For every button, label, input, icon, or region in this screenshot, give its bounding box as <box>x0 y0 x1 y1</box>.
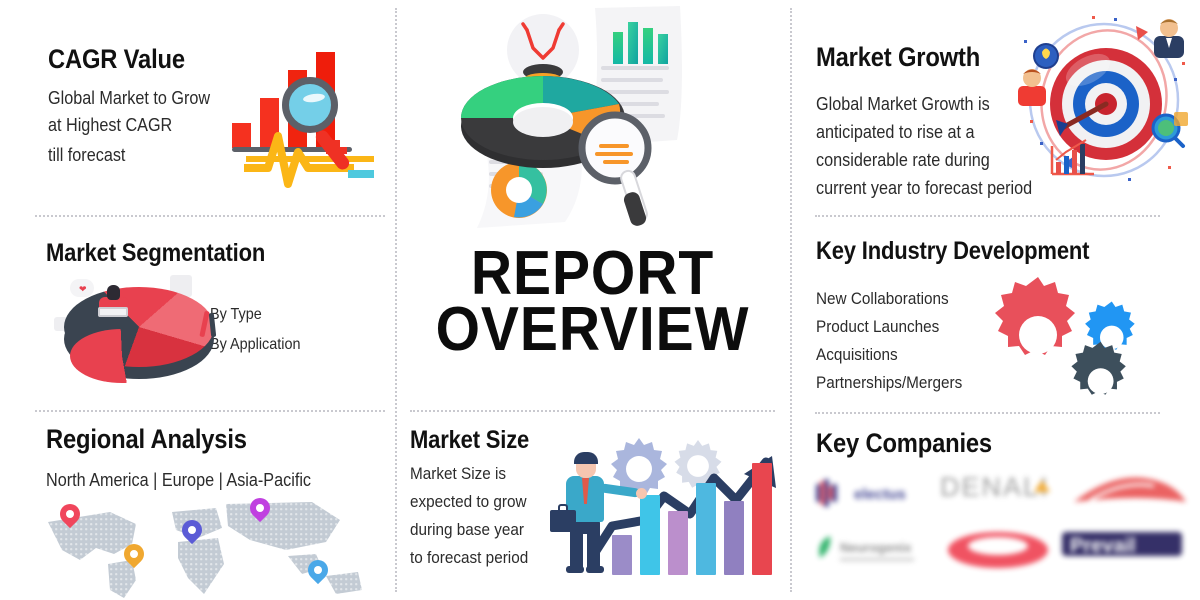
panel-regional-analysis: Regional Analysis North America | Europe… <box>0 410 395 600</box>
company-logo-prevail: Prevail <box>1060 528 1190 566</box>
panel-market-segmentation: Market Segmentation By Type By Applicati… <box>0 215 395 410</box>
market-growth-line-1: Global Market Growth is <box>816 92 990 117</box>
cagr-line-2: at Highest CAGR <box>48 113 172 138</box>
company-logo-denali-text: DENALI <box>940 472 1050 502</box>
cagr-illustration <box>230 75 380 190</box>
person-head <box>107 285 120 300</box>
company-logo-prevail-text: Prevail <box>1070 535 1136 557</box>
market-growth-illustration <box>1018 12 1188 192</box>
panel-market-growth: Market Growth Global Market Growth is an… <box>790 0 1200 215</box>
person-leg-gap <box>583 534 587 570</box>
panel-title-key-industry: Key Industry Development <box>816 237 1089 266</box>
company-logo-neurogenix: Neurogenix <box>810 532 940 566</box>
person-hand <box>636 488 647 499</box>
company-logo-electus: electus <box>810 476 940 510</box>
market-size-bar-1 <box>612 535 632 575</box>
gear-icon-dark <box>1071 342 1125 395</box>
magnifier-icon <box>282 77 338 133</box>
panel-title-market-size: Market Size <box>410 426 529 455</box>
key-industry-line-1: New Collaborations <box>816 287 949 311</box>
market-growth-line-3: considerable rate during <box>816 148 990 173</box>
briefcase-icon <box>550 510 576 532</box>
company-logo-oval <box>942 528 1054 570</box>
company-logo-electus-text: electus <box>854 486 906 503</box>
market-size-bar-2 <box>640 495 660 575</box>
person-shoe-right <box>586 566 604 573</box>
magnifier-gloss <box>303 93 326 104</box>
panel-title-market-growth: Market Growth <box>816 42 980 73</box>
report-overview-title: REPORT OVERVIEW <box>411 246 774 358</box>
regional-line-1: North America | Europe | Asia-Pacific <box>46 468 311 493</box>
world-map-illustration <box>40 498 380 598</box>
pie-exploded-slice <box>70 329 174 383</box>
cagr-line-1: Global Market to Grow <box>48 86 210 111</box>
laptop-icon <box>98 307 128 317</box>
person-shoe-left <box>566 566 584 573</box>
world-map-texture <box>40 498 380 598</box>
report-title-line-1: REPORT <box>411 246 774 302</box>
company-logo-grid: electus DENALI Neurogenix <box>810 470 1190 590</box>
gear-icon-red <box>995 277 1075 355</box>
panel-key-companies: Key Companies electus <box>790 412 1200 600</box>
market-size-bar-6 <box>752 463 772 575</box>
market-size-illustration <box>548 438 778 593</box>
panel-key-industry-development: Key Industry Development New Collaborati… <box>790 215 1200 412</box>
company-logo-swoosh <box>1070 472 1190 510</box>
panel-title-regional: Regional Analysis <box>46 424 247 455</box>
target-orbit-illustration <box>1018 12 1188 192</box>
infographic-canvas: CAGR Value Global Market to Grow at High… <box>0 0 1200 600</box>
gear-icon-blue <box>1085 301 1135 349</box>
panel-title-cagr: CAGR Value <box>48 44 185 75</box>
key-industry-line-2: Product Launches <box>816 315 939 339</box>
market-size-bar-3 <box>668 511 688 575</box>
person-hair <box>574 452 598 464</box>
gears-illustration <box>990 273 1155 403</box>
market-size-line-3: during base year <box>410 518 524 542</box>
panel-center-hero: REPORT OVERVIEW <box>395 0 790 410</box>
market-size-line-1: Market Size is <box>410 462 506 486</box>
company-logo-denali: DENALI <box>938 470 1078 510</box>
market-size-bar-5 <box>724 501 744 575</box>
key-industry-line-4: Partnerships/Mergers <box>816 371 962 395</box>
market-size-line-4: to forecast period <box>410 546 528 570</box>
panel-market-size: Market Size Market Size is expected to g… <box>395 410 790 600</box>
market-growth-line-2: anticipated to rise at a <box>816 120 974 145</box>
report-title-line-2: OVERVIEW <box>411 302 774 358</box>
cagr-line-3: till forecast <box>48 143 125 168</box>
analytics-report-illustration <box>415 0 775 235</box>
heart-icon: ❤ <box>79 284 87 292</box>
panel-title-segmentation: Market Segmentation <box>46 239 265 268</box>
panel-cagr-value: CAGR Value Global Market to Grow at High… <box>0 0 395 215</box>
company-logo-neurogenix-text: Neurogenix <box>840 540 912 555</box>
panel-title-key-companies: Key Companies <box>816 428 992 459</box>
segmentation-illustration: ❤ <box>52 273 227 395</box>
market-size-bar-4 <box>696 483 716 575</box>
plus-icon-h <box>326 147 347 154</box>
market-size-line-2: expected to grow <box>410 490 527 514</box>
cyan-dash <box>348 170 374 178</box>
market-growth-line-4: current year to forecast period <box>816 176 1032 201</box>
key-industry-line-3: Acquisitions <box>816 343 898 367</box>
